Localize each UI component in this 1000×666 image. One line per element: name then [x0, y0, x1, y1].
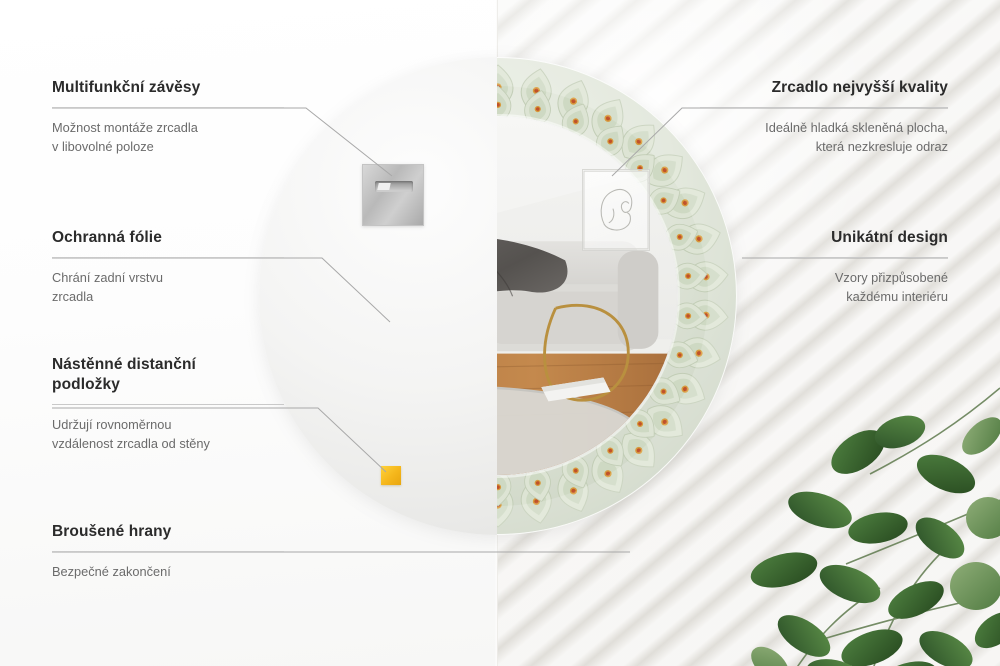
callout-description: Možnost montáže zrcadla v libovolné polo… [52, 119, 284, 156]
callout-desc-line2: vzdálenost zrcadla od stěny [52, 436, 210, 451]
callout-title: Zrcadlo nejvyšší kvality [700, 78, 948, 98]
callout-wall-spacers: Nástěnné distanční podložky Udržují rovn… [52, 355, 284, 453]
callout-top-quality-mirror: Zrcadlo nejvyšší kvality Ideálně hladká … [700, 78, 948, 156]
callout-rule [52, 107, 284, 108]
callout-rule [790, 257, 948, 258]
callout-rule [52, 551, 284, 552]
hanging-bracket [362, 164, 424, 226]
callout-polished-edges: Broušené hrany Bezpečné zakončení [52, 522, 284, 582]
callout-unique-design: Unikátní design Vzory přizpůsobené každé… [790, 228, 948, 306]
callout-protective-foil: Ochranná fólie Chrání zadní vrstvu zrcad… [52, 228, 284, 306]
callout-desc-line2: která nezkresluje odraz [816, 139, 948, 154]
callout-title: Multifunkční závěsy [52, 78, 284, 98]
callout-desc-line2: v libovolné poloze [52, 139, 154, 154]
callout-title: Unikátní design [790, 228, 948, 248]
callout-rule [700, 107, 948, 108]
wall-spacer-pad [381, 466, 401, 485]
bracket-keyhole-slot [375, 181, 413, 192]
callout-description: Bezpečné zakončení [52, 563, 284, 582]
callout-desc-line1: Možnost montáže zrcadla [52, 120, 198, 135]
callout-desc-line1: Ideálně hladká skleněná plocha, [765, 120, 948, 135]
callout-title-line2: podložky [52, 376, 120, 393]
callout-desc-line1: Chrání zadní vrstvu [52, 270, 163, 285]
callout-title: Nástěnné distanční podložky [52, 355, 284, 395]
callout-description: Udržují rovnoměrnou vzdálenost zrcadla o… [52, 416, 284, 453]
callout-desc-line2: zrcadla [52, 289, 93, 304]
callout-description: Vzory přizpůsobené každému interiéru [790, 269, 948, 306]
callout-desc-line2: každému interiéru [846, 289, 948, 304]
callout-title: Broušené hrany [52, 522, 284, 542]
callout-title-line1: Nástěnné distanční [52, 356, 196, 373]
infographic-stage: Multifunkční závěsy Možnost montáže zrca… [0, 0, 1000, 666]
callout-description: Ideálně hladká skleněná plocha, která ne… [700, 119, 948, 156]
callout-multifunctional-hangers: Multifunkční závěsy Možnost montáže zrca… [52, 78, 284, 156]
callout-description: Chrání zadní vrstvu zrcadla [52, 269, 284, 306]
foliage-decoration [750, 378, 1000, 666]
callout-title: Ochranná fólie [52, 228, 284, 248]
callout-rule [52, 404, 284, 405]
mirror-product [259, 57, 737, 535]
wall-art-frame [582, 169, 650, 251]
callout-desc-line1: Vzory přizpůsobené [835, 270, 948, 285]
callout-rule [52, 257, 284, 258]
callout-desc-line1: Udržují rovnoměrnou [52, 417, 172, 432]
